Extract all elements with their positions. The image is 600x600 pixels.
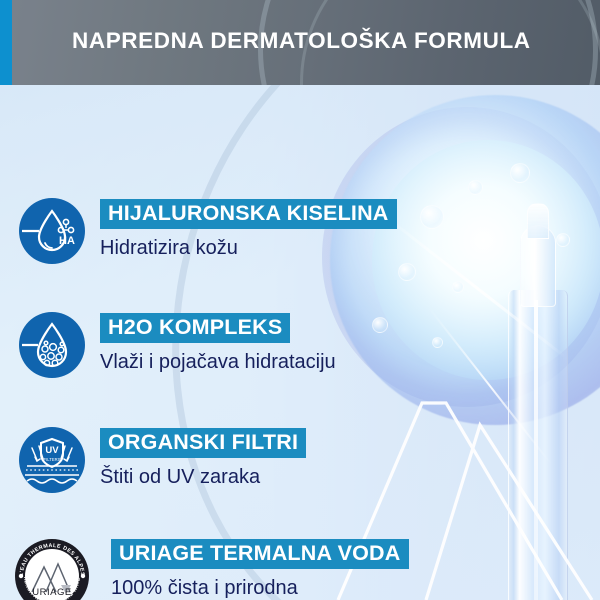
- bubble-icon: [556, 233, 570, 247]
- feature-text-block: H2O KOMPLEKS Vlaži i pojačava hidratacij…: [100, 311, 336, 374]
- feature-row-organic-filters: UV FILTERS ORGANSKI FILTRI Štiti od UV z…: [18, 426, 306, 494]
- feature-text-block: HIJALURONSKA KISELINA Hidratizira kožu: [100, 197, 397, 260]
- product-feature-poster: NAPREDNA DERMATOLOŠKA FORMULA: [0, 0, 600, 600]
- bubble-icon: [372, 317, 388, 333]
- feature-title: HIJALURONSKA KISELINA: [100, 199, 397, 229]
- feature-row-h2o-complex: H2O KOMPLEKS Vlaži i pojačava hidratacij…: [18, 311, 336, 379]
- feature-description-line: 100% čista i prirodna: [111, 576, 431, 600]
- bubble-icon: [432, 337, 443, 348]
- feature-description: Hidratizira kožu: [100, 236, 397, 261]
- bubble-icon: [420, 205, 444, 229]
- uv-shield-filter-icon: UV FILTERS: [18, 426, 86, 494]
- filters-label: FILTERS: [44, 457, 61, 462]
- header-accent-bar: [0, 0, 12, 85]
- feature-title: H2O KOMPLEKS: [100, 313, 290, 343]
- feature-row-hyaluronic-acid: HA HIJALURONSKA KISELINA Hidratizira kož…: [18, 197, 397, 265]
- feature-text-block: ORGANSKI FILTRI Štiti od UV zaraka: [100, 426, 306, 489]
- feature-description: Štiti od UV zaraka: [100, 465, 306, 490]
- bubble-icon: [398, 263, 416, 281]
- uriage-thermal-water-seal-icon: L'EAU THERMALE DES ALPES FRENCH ALPS THE…: [13, 537, 91, 600]
- feature-title: URIAGE TERMALNA VODA: [111, 539, 409, 569]
- water-complex-droplet-icon: [18, 311, 86, 379]
- hyaluronic-acid-droplet-icon: HA: [18, 197, 86, 265]
- uv-label: UV: [45, 445, 59, 456]
- uriage-wordmark: URIAGE: [32, 587, 71, 598]
- feature-row-uriage-thermal-water: L'EAU THERMALE DES ALPES FRENCH ALPS THE…: [13, 537, 431, 600]
- poster-header: NAPREDNA DERMATOLOŠKA FORMULA: [0, 0, 600, 85]
- feature-title: ORGANSKI FILTRI: [100, 428, 306, 458]
- bubble-icon: [468, 180, 483, 195]
- poster-body: HA HIJALURONSKA KISELINA Hidratizira kož…: [0, 85, 600, 600]
- feature-text-block: URIAGE TERMALNA VODA 100% čista i prirod…: [111, 537, 431, 600]
- feature-description: 100% čista i prirodna Omekšava i umiruje…: [111, 576, 431, 600]
- ampoule-tip: [527, 203, 549, 239]
- bubble-icon: [510, 163, 530, 183]
- bubble-icon: [452, 281, 464, 293]
- feature-description: Vlaži i pojačava hidrataciju: [100, 350, 336, 375]
- page-title: NAPREDNA DERMATOLOŠKA FORMULA: [72, 28, 531, 54]
- ha-label: HA: [59, 235, 75, 247]
